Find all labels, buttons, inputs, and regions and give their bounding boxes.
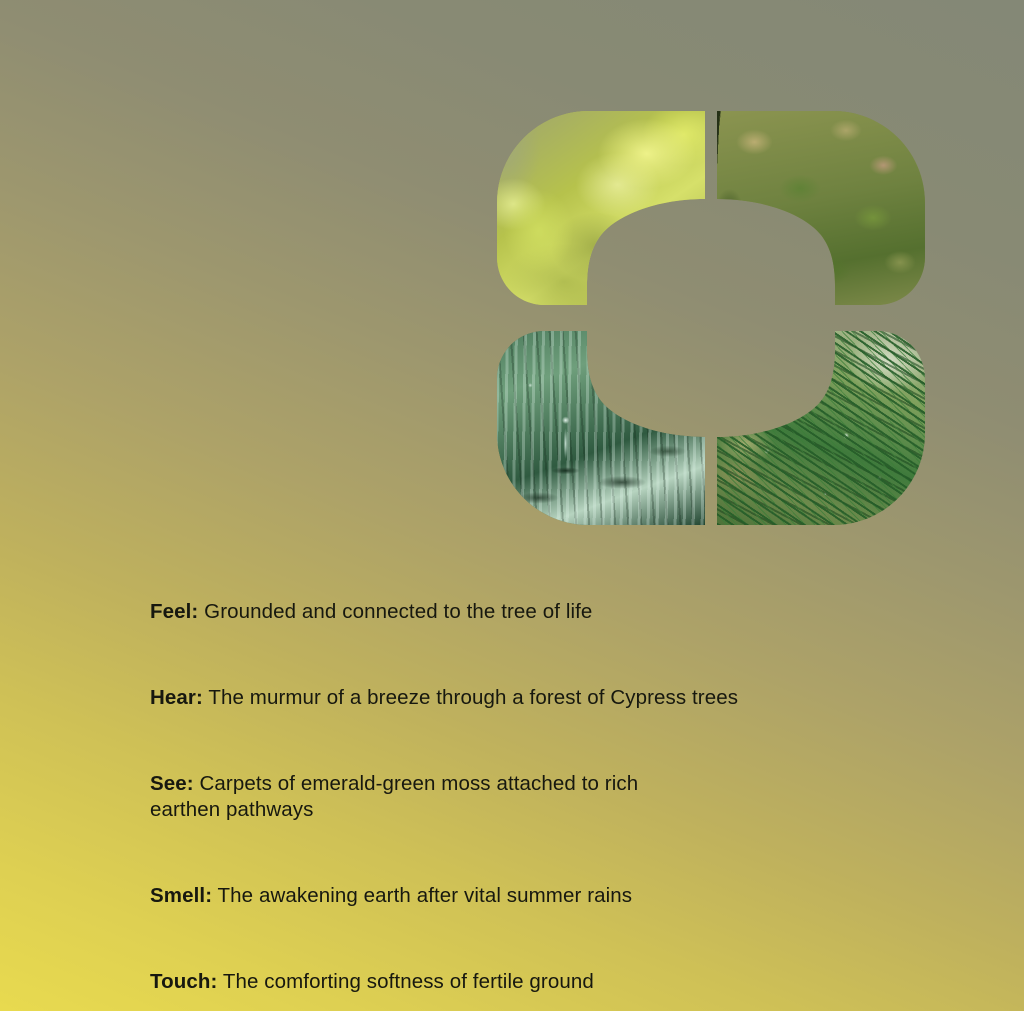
rain-droplet-texture-image — [497, 331, 705, 525]
sensory-label-touch: Touch: — [150, 970, 217, 993]
sensory-label-hear: Hear: — [150, 686, 203, 709]
sensory-label-feel: Feel: — [150, 600, 198, 623]
sensory-item-smell: Smell: The awakening earth after vital s… — [150, 857, 950, 909]
pine-needles-texture-image — [717, 331, 925, 525]
sensory-label-smell: Smell: — [150, 884, 212, 907]
logo-tile-top-right — [717, 111, 925, 305]
sensory-item-touch: Touch: The comforting softness of fertil… — [150, 943, 950, 995]
sensory-item-see: See: Carpets of emerald-green moss attac… — [150, 745, 950, 823]
logo-tile-top-left — [497, 111, 705, 305]
sensory-description-list: Feel: Grounded and connected to the tree… — [150, 573, 950, 995]
logo-tile-bottom-right — [717, 331, 925, 525]
logo-mark — [497, 111, 925, 525]
sensory-text-see: Carpets of emerald-green moss attached t… — [150, 772, 638, 821]
sensory-text-smell: The awakening earth after vital summer r… — [212, 884, 632, 907]
poster-canvas: Feel: Grounded and connected to the tree… — [0, 0, 1024, 1011]
moss-texture-image — [497, 111, 705, 305]
sensory-text-hear: The murmur of a breeze through a forest … — [203, 686, 738, 709]
sensory-item-hear: Hear: The murmur of a breeze through a f… — [150, 659, 950, 711]
bark-texture-image — [717, 111, 925, 305]
sensory-text-touch: The comforting softness of fertile groun… — [217, 970, 593, 993]
sensory-item-feel: Feel: Grounded and connected to the tree… — [150, 573, 950, 625]
sensory-text-feel: Grounded and connected to the tree of li… — [198, 600, 592, 623]
logo-tile-bottom-left — [497, 331, 705, 525]
sensory-label-see: See: — [150, 772, 194, 795]
